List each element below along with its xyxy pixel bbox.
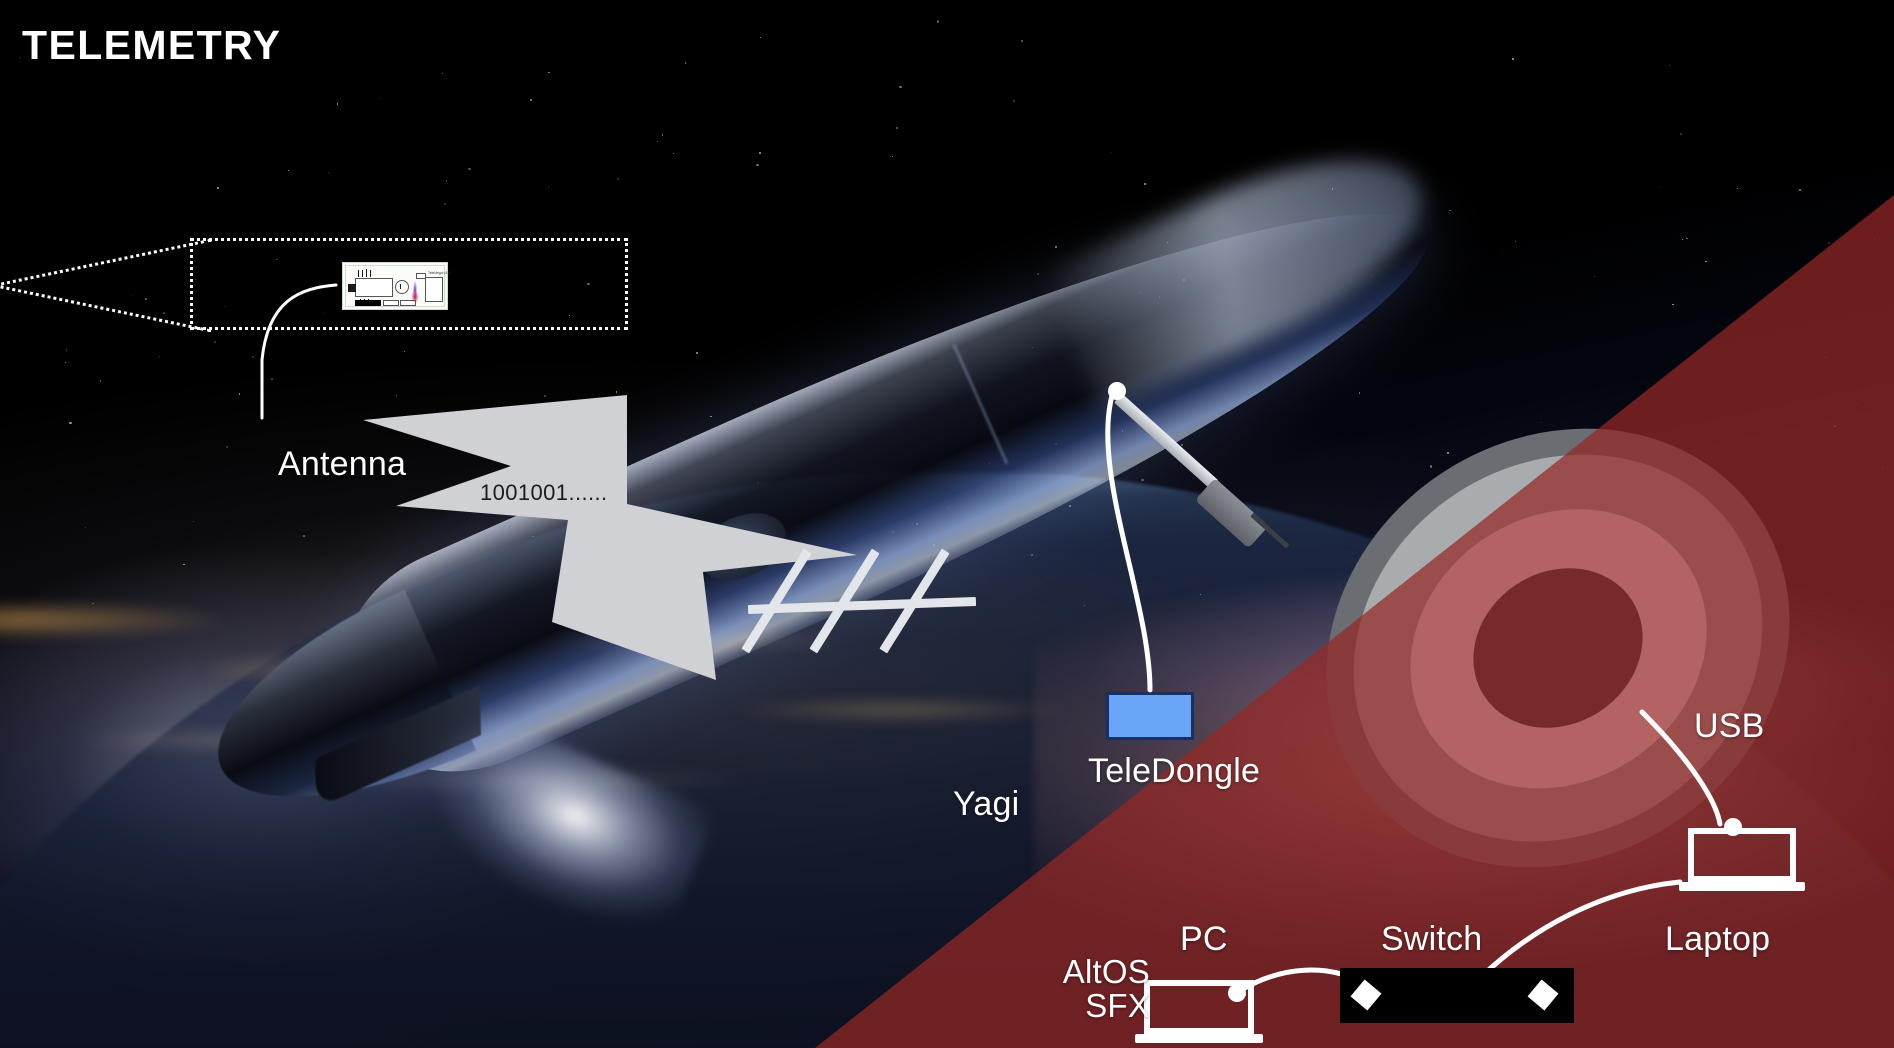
teledongle-to-rocket-line <box>1108 392 1150 690</box>
label-yagi: Yagi <box>953 785 1019 824</box>
connector-lines <box>0 0 1894 1048</box>
label-pc: PC <box>1180 920 1228 959</box>
antenna-leader-line <box>262 285 336 418</box>
rocket-link-node <box>1108 382 1126 400</box>
pc-port-node <box>1228 984 1246 1002</box>
laptop-icon[interactable] <box>1688 828 1800 896</box>
laptop-usb-node <box>1724 818 1742 836</box>
laptop-to-switch-line <box>1480 882 1680 978</box>
label-altos-line1: AltOS <box>1040 955 1150 989</box>
label-teledongle: TeleDongle <box>1088 752 1260 791</box>
telemetry-diagram-canvas: TeleMega v3.0 1001001...... <box>0 0 1894 1048</box>
page-title: TELEMETRY <box>22 22 281 69</box>
label-antenna: Antenna <box>278 445 406 484</box>
label-switch: Switch <box>1381 920 1482 959</box>
label-usb: USB <box>1694 707 1765 746</box>
label-altos-line2: SFX <box>1040 989 1150 1023</box>
label-laptop: Laptop <box>1665 920 1770 959</box>
